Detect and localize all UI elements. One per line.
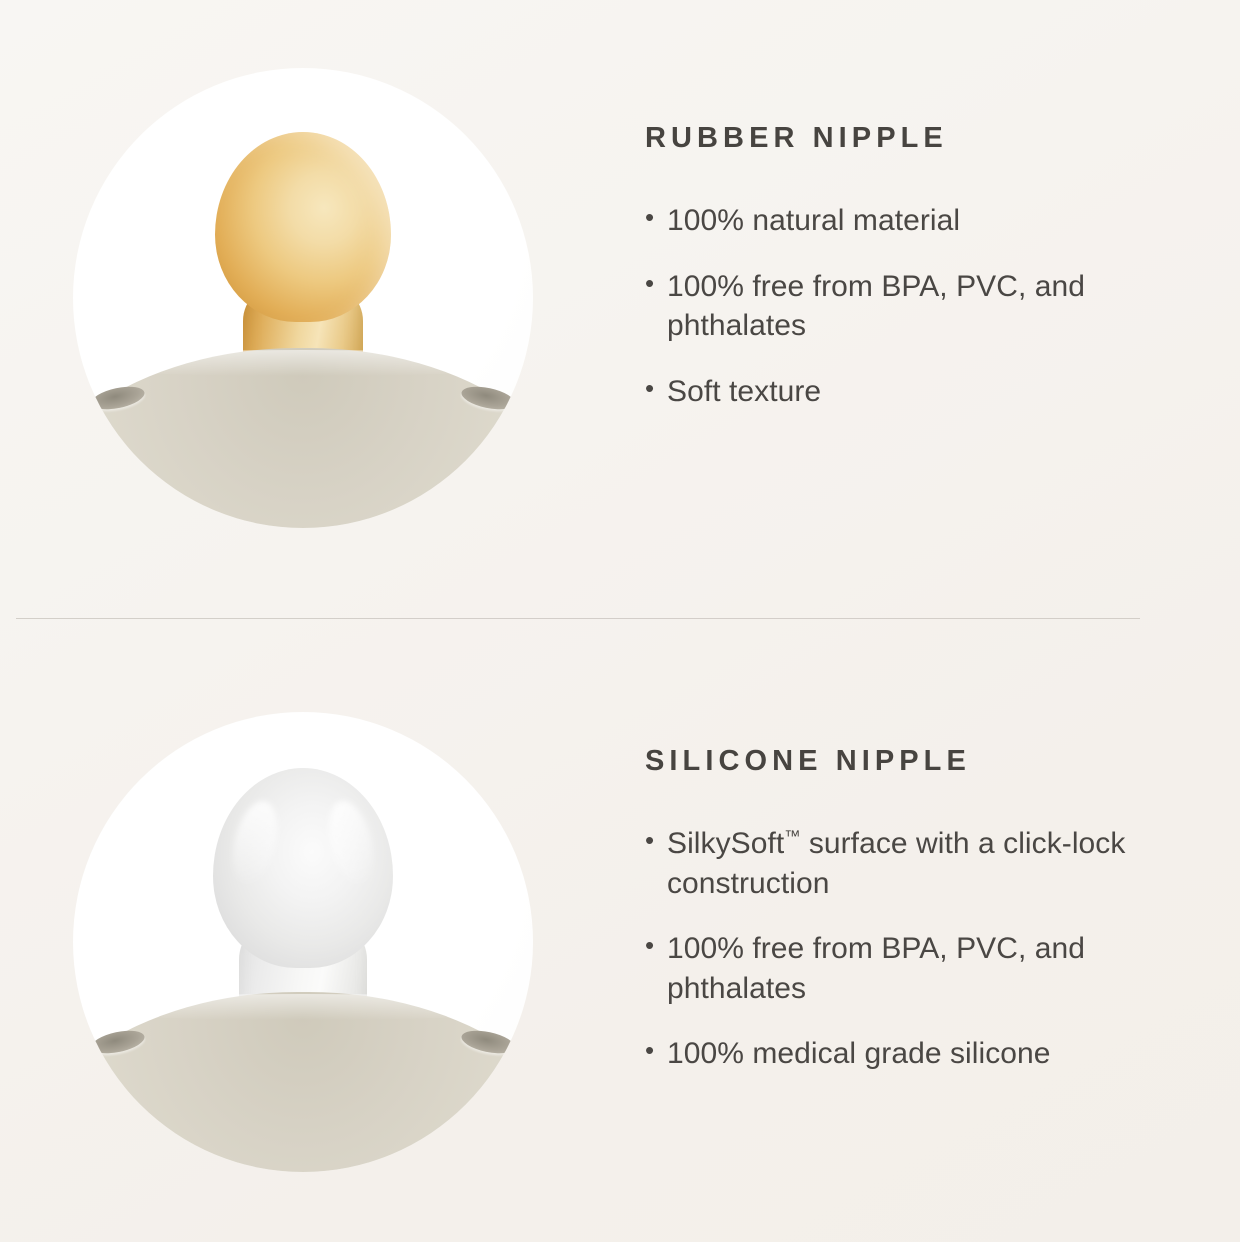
nipple-comparison-infographic: RUBBER NIPPLE 100% natural material 100%… (0, 0, 1240, 1242)
rubber-pacifier-shield (73, 348, 533, 528)
silicone-feature-list: SilkySoft™ surface with a click-lock con… (645, 824, 1205, 1074)
rubber-teat-bulb (215, 132, 391, 322)
rubber-feature-list: 100% natural material 100% free from BPA… (645, 201, 1115, 411)
list-item: 100% natural material (645, 201, 1115, 241)
rubber-media-column (0, 0, 600, 618)
trademark-symbol: ™ (784, 827, 800, 845)
rubber-text-column: RUBBER NIPPLE 100% natural material 100%… (600, 0, 1240, 411)
section-divider (16, 618, 1140, 619)
silicone-pacifier-nipple-photo (73, 712, 533, 1172)
air-hole-left-icon (90, 383, 147, 414)
air-hole-right-icon (460, 383, 517, 414)
silkysoft-label: SilkySoft (667, 827, 784, 860)
list-item: 100% free from BPA, PVC, and phthalates (645, 929, 1205, 1008)
list-item: SilkySoft™ surface with a click-lock con… (645, 824, 1205, 903)
list-item: 100% medical grade silicone (645, 1034, 1205, 1074)
air-hole-right-icon (460, 1027, 517, 1058)
silicone-teat-bulb (213, 768, 393, 968)
section-silicone-nipple: SILICONE NIPPLE SilkySoft™ surface with … (0, 640, 1240, 1242)
rubber-section-title: RUBBER NIPPLE (645, 122, 1240, 155)
silicone-media-column (0, 640, 600, 1242)
silicone-pacifier-shield (73, 992, 533, 1172)
rubber-pacifier-nipple-photo (73, 68, 533, 528)
list-item: 100% free from BPA, PVC, and phthalates (645, 267, 1115, 346)
silicone-section-title: SILICONE NIPPLE (645, 745, 1240, 778)
section-rubber-nipple: RUBBER NIPPLE 100% natural material 100%… (0, 0, 1240, 618)
silicone-text-column: SILICONE NIPPLE SilkySoft™ surface with … (600, 640, 1240, 1074)
list-item: Soft texture (645, 372, 1115, 412)
air-hole-left-icon (90, 1027, 147, 1058)
